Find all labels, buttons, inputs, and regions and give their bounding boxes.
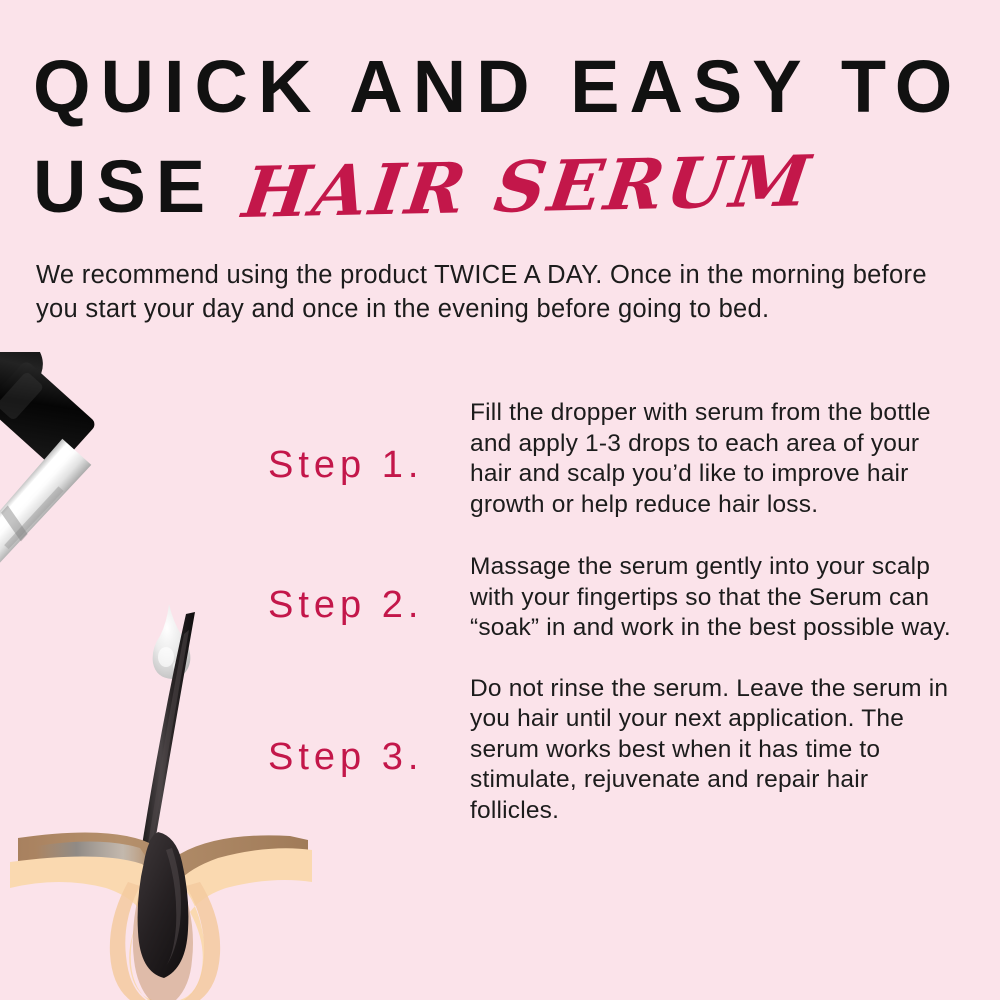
step-1-label: Step 1. — [268, 398, 463, 486]
step-item-2: Step 2. Massage the serum gently into yo… — [0, 552, 1000, 644]
headline-script-hair-serum: HAIR SERUM — [239, 146, 817, 228]
subtitle-recommendation: We recommend using the product TWICE A D… — [36, 258, 966, 326]
step-item-1: Step 1. Fill the dropper with serum from… — [0, 398, 1000, 520]
step-3-label: Step 3. — [268, 674, 463, 778]
poster-canvas: QUICK AND EASY TO USE HAIR SERUM We reco… — [0, 0, 1000, 1000]
step-2-text: Massage the serum gently into your scalp… — [470, 552, 964, 644]
headline-line-1: QUICK AND EASY TO — [33, 48, 973, 126]
headline-line-2: USE HAIR SERUM — [33, 132, 973, 224]
step-2-label: Step 2. — [268, 552, 463, 626]
headline-use-word: USE — [33, 150, 215, 224]
step-3-text: Do not rinse the serum. Leave the serum … — [470, 674, 964, 827]
steps-list: Step 1. Fill the dropper with serum from… — [0, 398, 1000, 854]
step-item-3: Step 3. Do not rinse the serum. Leave th… — [0, 674, 1000, 827]
headline: QUICK AND EASY TO USE HAIR SERUM — [33, 48, 973, 224]
step-1-text: Fill the dropper with serum from the bot… — [470, 398, 964, 520]
